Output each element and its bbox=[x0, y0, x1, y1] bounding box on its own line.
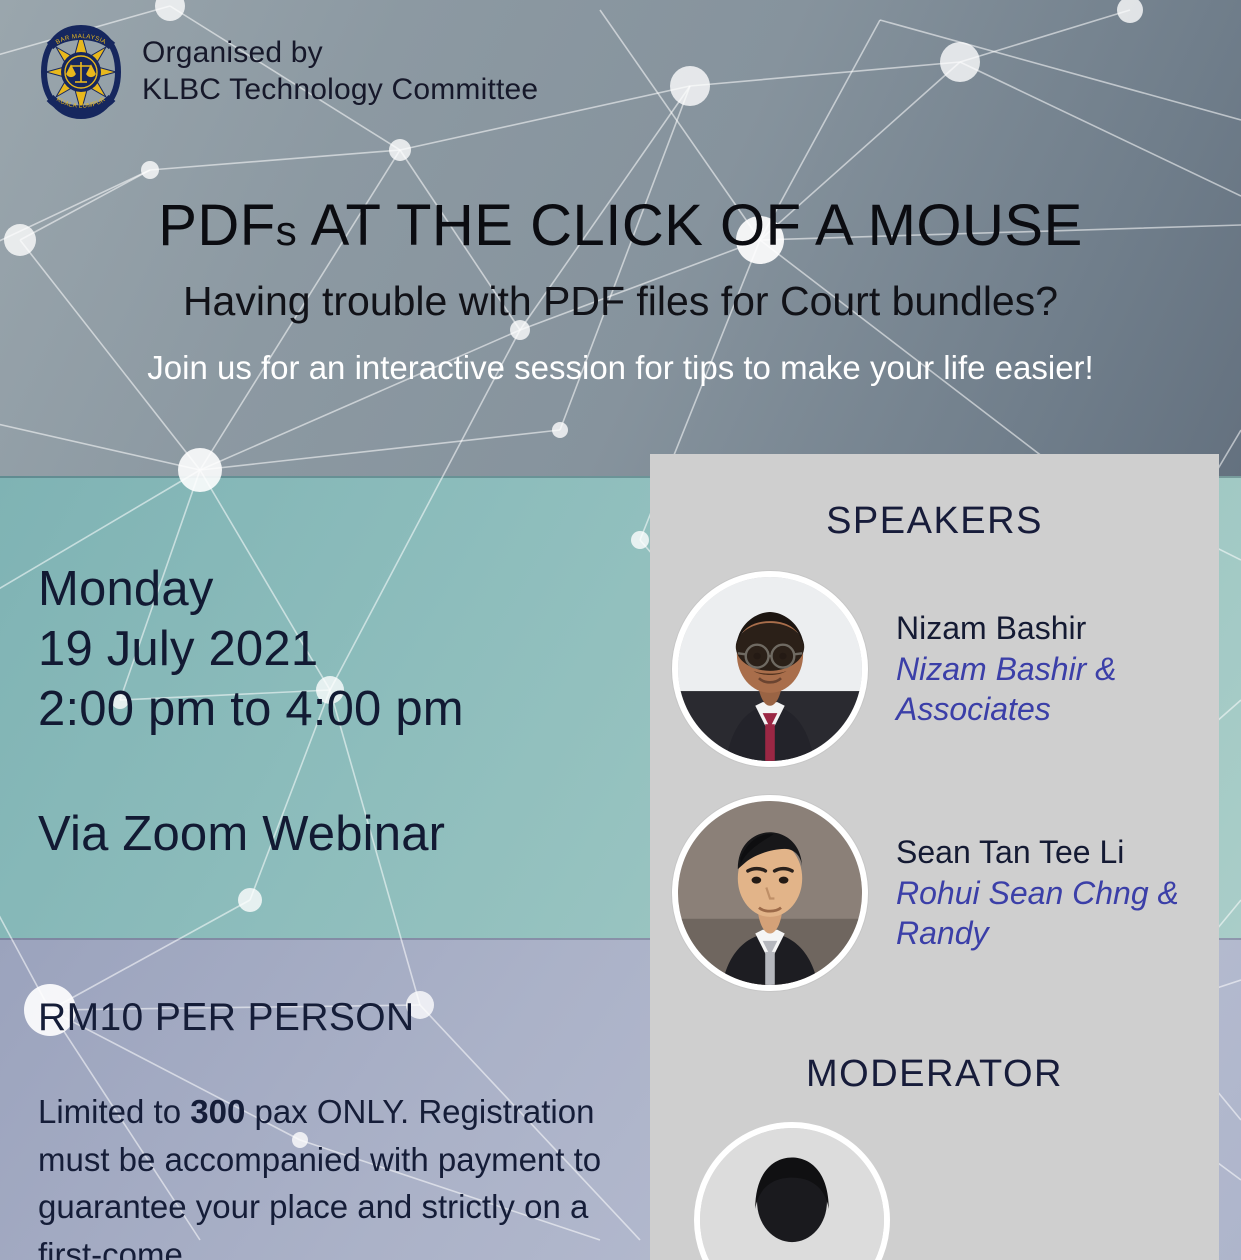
event-day: Monday bbox=[38, 560, 464, 620]
speaker-name: Sean Tan Tee Li bbox=[896, 833, 1219, 872]
poster-tagline: Join us for an interactive session for t… bbox=[0, 350, 1241, 386]
speakers-panel: SPEAKERS bbox=[650, 454, 1219, 1260]
speaker-portrait-illustration bbox=[678, 801, 862, 985]
event-date: 19 July 2021 bbox=[38, 620, 464, 680]
moderator-portrait-illustration bbox=[700, 1128, 884, 1260]
speaker-firm: Nizam Bashir & Associates bbox=[896, 650, 1219, 728]
event-datetime-block: Monday 19 July 2021 2:00 pm to 4:00 pm bbox=[38, 560, 464, 739]
organiser-text-block: Organised by KLBC Technology Committee bbox=[142, 35, 538, 108]
moderator-photo bbox=[694, 1122, 890, 1260]
poster-title: PDFs AT THE CLICK OF A MOUSE bbox=[0, 196, 1241, 257]
terms-text-before-limit: Limited to bbox=[38, 1093, 190, 1130]
registration-terms: Limited to 300 pax ONLY. Registration mu… bbox=[38, 1088, 638, 1260]
webinar-poster: BAR MALAYSIA KUALA LUMPUR Organised by K… bbox=[0, 0, 1241, 1260]
speaker-info: Nizam Bashir Nizam Bashir & Associates bbox=[896, 609, 1219, 728]
poster-title-plural-s: s bbox=[276, 207, 298, 254]
poster-subtitle: Having trouble with PDF files for Court … bbox=[0, 279, 1241, 324]
speaker-info: Sean Tan Tee Li Rohui Sean Chng & Randy bbox=[896, 833, 1219, 952]
speaker-photo-nizam-bashir bbox=[672, 571, 868, 767]
speaker-name: Nizam Bashir bbox=[896, 609, 1219, 648]
organiser-committee: KLBC Technology Committee bbox=[142, 72, 538, 109]
hero-section: PDFs AT THE CLICK OF A MOUSE Having trou… bbox=[0, 196, 1241, 386]
poster-title-rest: AT THE CLICK OF A MOUSE bbox=[297, 193, 1083, 258]
event-platform: Via Zoom Webinar bbox=[38, 806, 445, 862]
organised-by-label: Organised by bbox=[142, 35, 538, 72]
speaker-firm: Rohui Sean Chng & Randy bbox=[896, 874, 1219, 952]
organiser-header: BAR MALAYSIA KUALA LUMPUR Organised by K… bbox=[40, 24, 538, 120]
speakers-heading: SPEAKERS bbox=[650, 500, 1219, 543]
speaker-row: Nizam Bashir Nizam Bashir & Associates bbox=[650, 571, 1219, 767]
moderator-heading: MODERATOR bbox=[650, 1053, 1219, 1096]
poster-title-pdf: PDF bbox=[158, 193, 276, 258]
kl-bar-malaysia-logo: BAR MALAYSIA KUALA LUMPUR bbox=[40, 24, 122, 120]
speaker-row: Sean Tan Tee Li Rohui Sean Chng & Randy bbox=[650, 795, 1219, 991]
event-time: 2:00 pm to 4:00 pm bbox=[38, 680, 464, 740]
speaker-photo-sean-tan-tee-li bbox=[672, 795, 868, 991]
event-price: RM10 PER PERSON bbox=[38, 996, 415, 1040]
moderator-row bbox=[650, 1122, 1219, 1260]
terms-pax-limit: 300 bbox=[190, 1093, 245, 1130]
speaker-portrait-illustration bbox=[678, 577, 862, 761]
